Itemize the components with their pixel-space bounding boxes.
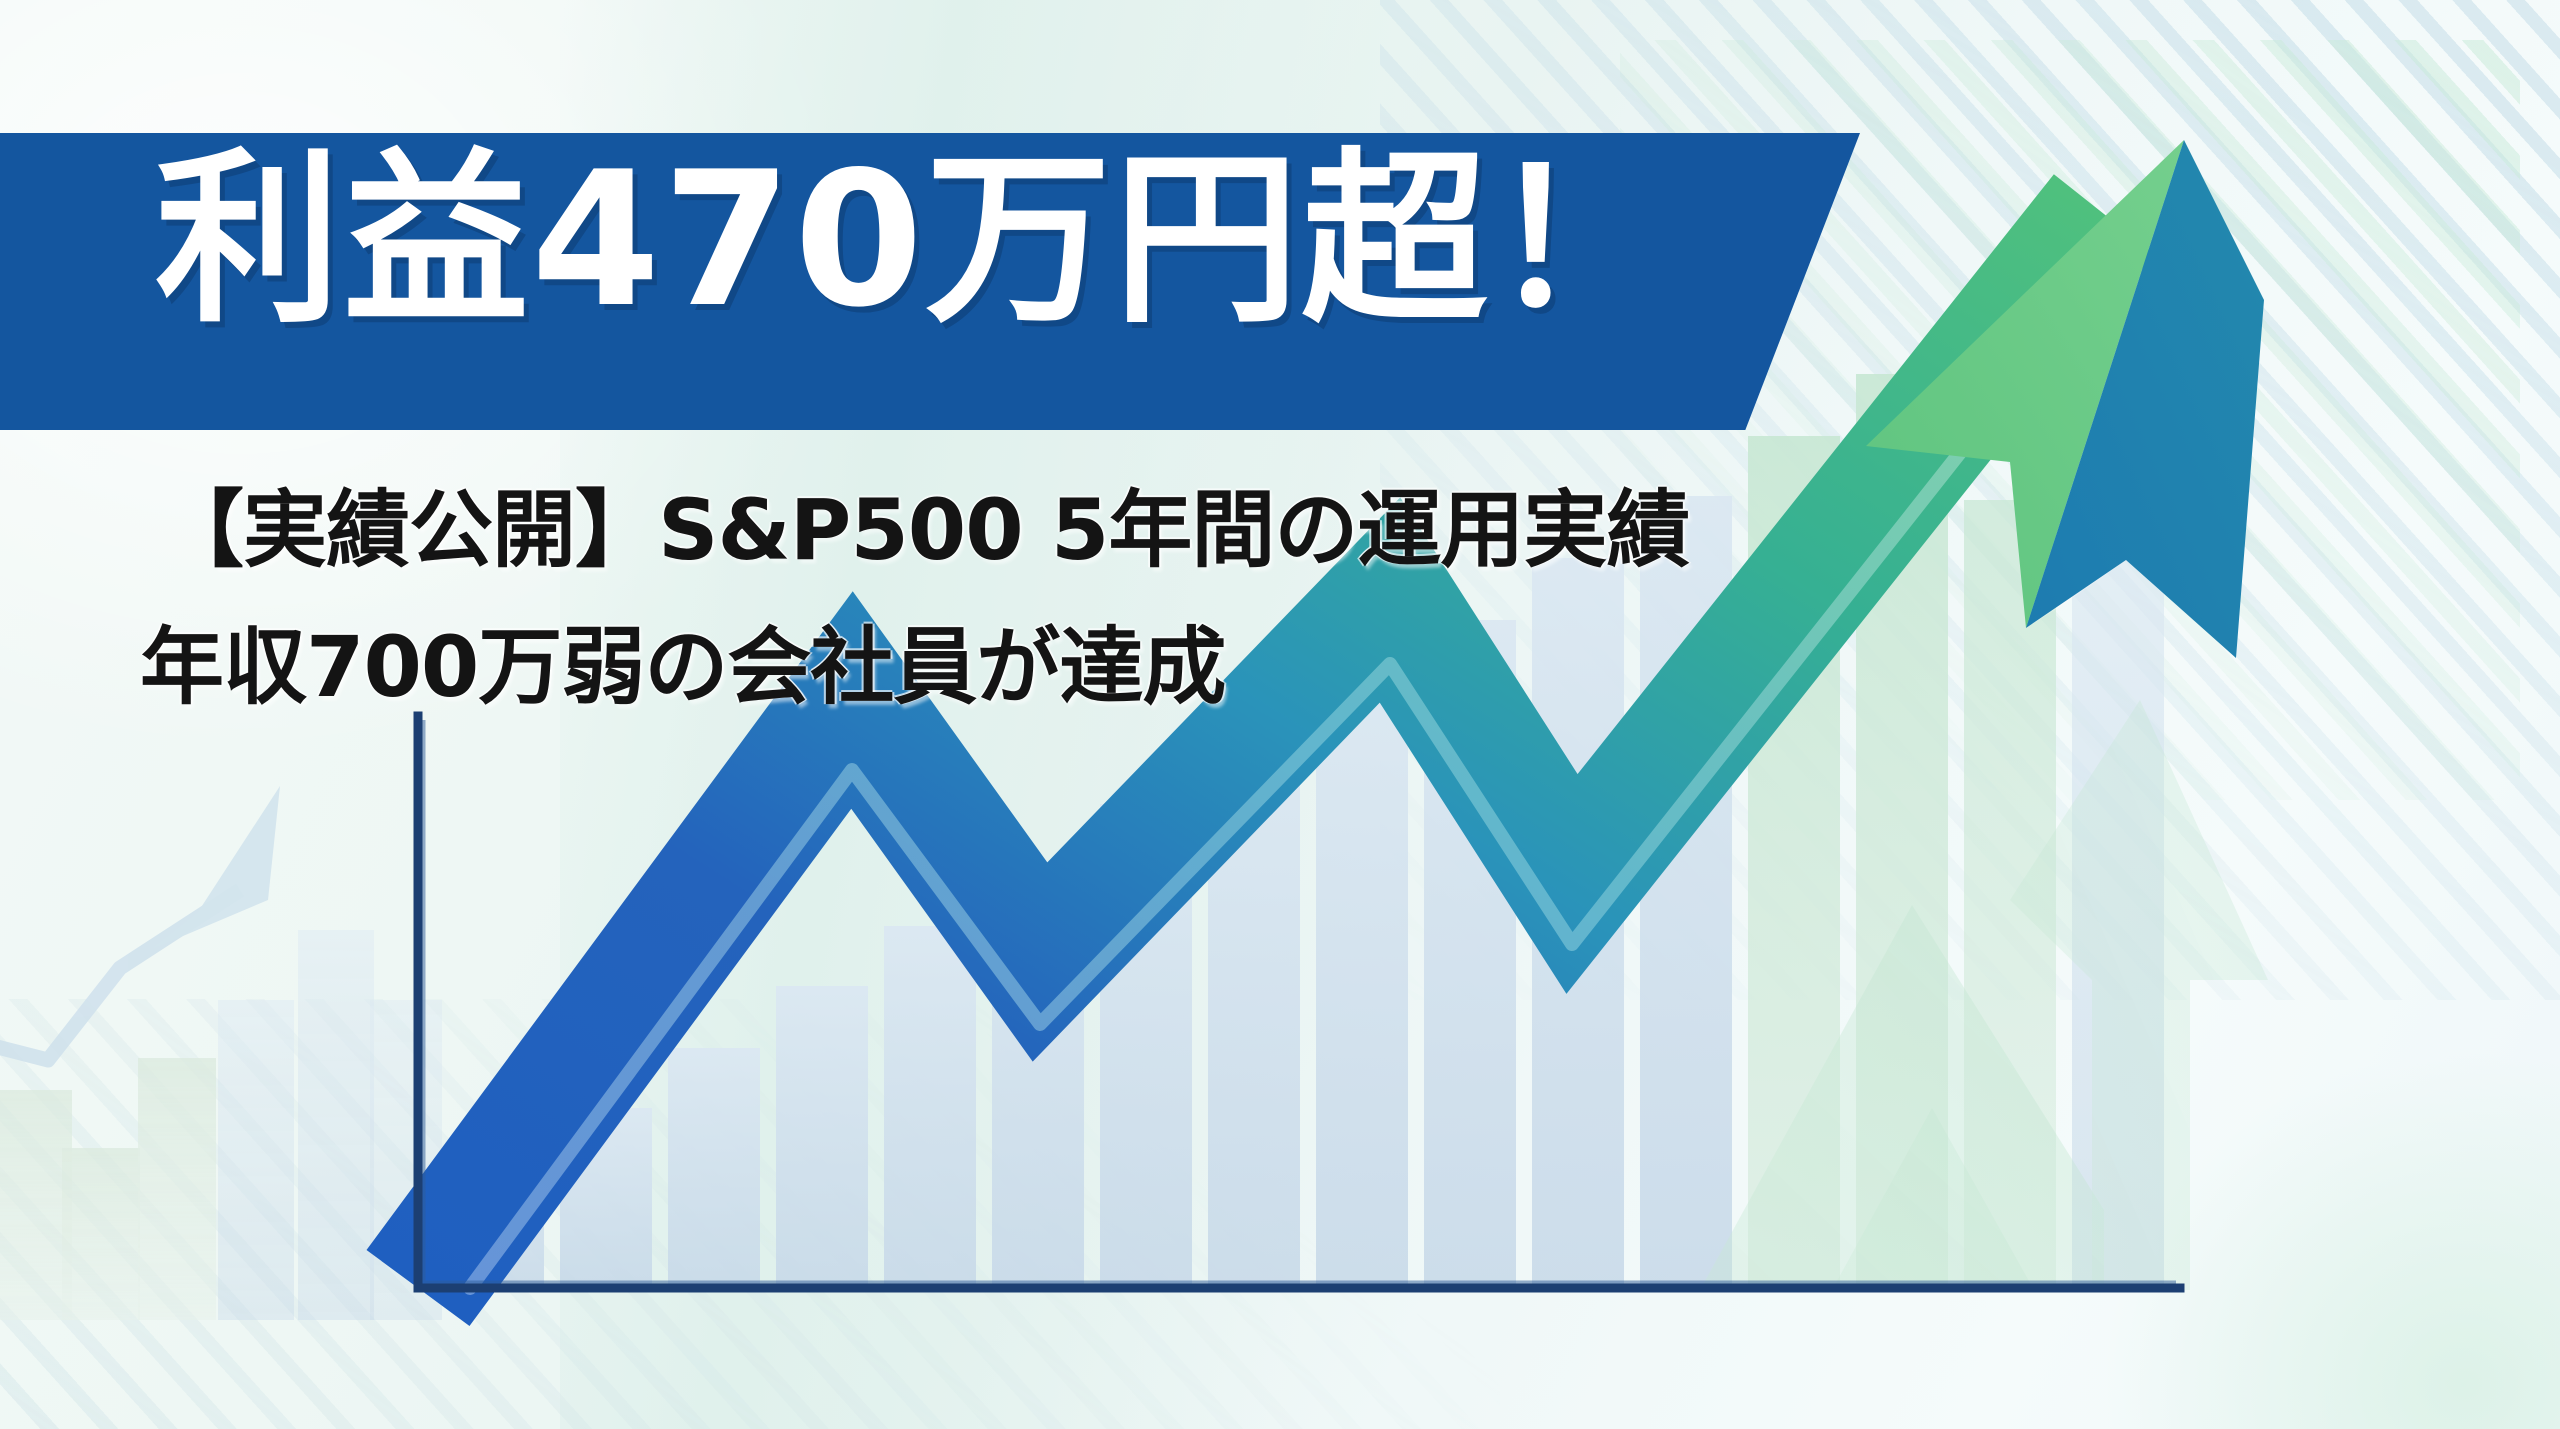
page-title: 利益470万円超！	[155, 147, 1677, 333]
subtitle-line-2: 年収700万弱の会社員が達成	[140, 600, 1225, 721]
poster-canvas: 利益470万円超！ 【実績公開】S&P500 5年間の運用実績 年収700万弱の…	[0, 0, 2560, 1429]
subtitle-line-1: 【実績公開】S&P500 5年間の運用実績	[160, 463, 1689, 584]
